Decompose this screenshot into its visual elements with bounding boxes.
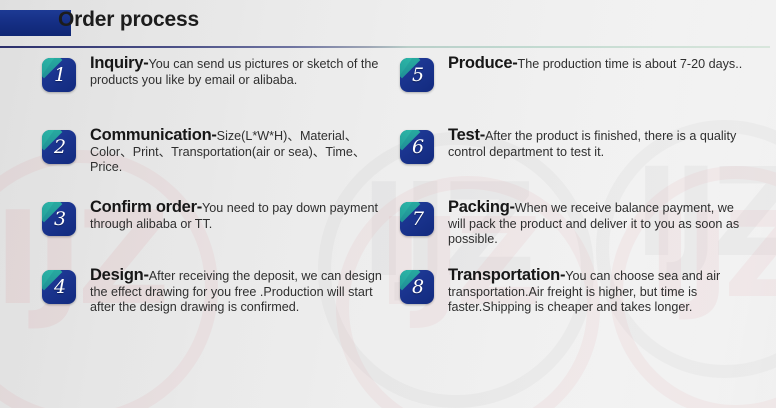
step-desc-6: After the product is finished, there is …: [448, 129, 736, 159]
step-item-1: 1 Inquiry-You can send us pictures or sk…: [42, 56, 386, 92]
step-title-2: Communication-: [90, 126, 217, 144]
step-item-3: 3 Confirm order-You need to pay down pay…: [42, 200, 386, 236]
step-number-badge-3: 3: [42, 202, 76, 236]
step-number-badge-2: 2: [42, 130, 76, 164]
step-desc-5: The production time is about 7-20 days..: [518, 57, 743, 71]
step-title-3: Confirm order-: [90, 198, 202, 216]
step-text-8: Transportation-You can choose sea and ai…: [448, 268, 748, 316]
step-item-8: 8 Transportation-You can choose sea and …: [400, 268, 748, 316]
step-number-4: 4: [42, 270, 76, 304]
step-item-2: 2 Communication-Size(L*W*H)、Material、Col…: [42, 128, 386, 176]
step-text-1: Inquiry-You can send us pictures or sket…: [90, 56, 386, 88]
step-title-7: Packing-: [448, 198, 515, 216]
step-item-4: 4 Design-After receiving the deposit, we…: [42, 268, 386, 316]
step-number-6: 6: [400, 130, 434, 164]
step-number-2: 2: [42, 130, 76, 164]
step-number-7: 7: [400, 202, 434, 236]
section-header: Order process: [0, 10, 776, 38]
step-number-badge-5: 5: [400, 58, 434, 92]
step-title-5: Produce-: [448, 54, 518, 72]
step-number-badge-6: 6: [400, 130, 434, 164]
step-text-3: Confirm order-You need to pay down payme…: [90, 200, 386, 232]
step-text-7: Packing-When we receive balance payment,…: [448, 200, 748, 248]
header-divider: [0, 46, 770, 48]
step-text-2: Communication-Size(L*W*H)、Material、Color…: [90, 128, 386, 176]
step-number-1: 1: [42, 58, 76, 92]
step-item-5: 5 Produce-The production time is about 7…: [400, 56, 742, 92]
step-number-8: 8: [400, 270, 434, 304]
step-number-badge-8: 8: [400, 270, 434, 304]
step-text-4: Design-After receiving the deposit, we c…: [90, 268, 386, 316]
step-text-6: Test-After the product is finished, ther…: [448, 128, 748, 160]
step-title-4: Design-: [90, 266, 149, 284]
step-title-8: Transportation-: [448, 266, 565, 284]
step-number-badge-4: 4: [42, 270, 76, 304]
step-number-badge-7: 7: [400, 202, 434, 236]
page-title: Order process: [58, 8, 199, 32]
step-number-5: 5: [400, 58, 434, 92]
process-steps: 1 Inquiry-You can send us pictures or sk…: [0, 56, 776, 366]
step-title-1: Inquiry-: [90, 54, 149, 72]
order-process-panel: IJZ IJZ IJZ IJZ IJZ Order process 1 Inqu…: [0, 0, 776, 408]
step-title-6: Test-: [448, 126, 485, 144]
step-item-6: 6 Test-After the product is finished, th…: [400, 128, 748, 164]
step-number-badge-1: 1: [42, 58, 76, 92]
step-number-3: 3: [42, 202, 76, 236]
step-item-7: 7 Packing-When we receive balance paymen…: [400, 200, 748, 248]
step-text-5: Produce-The production time is about 7-2…: [448, 56, 742, 73]
